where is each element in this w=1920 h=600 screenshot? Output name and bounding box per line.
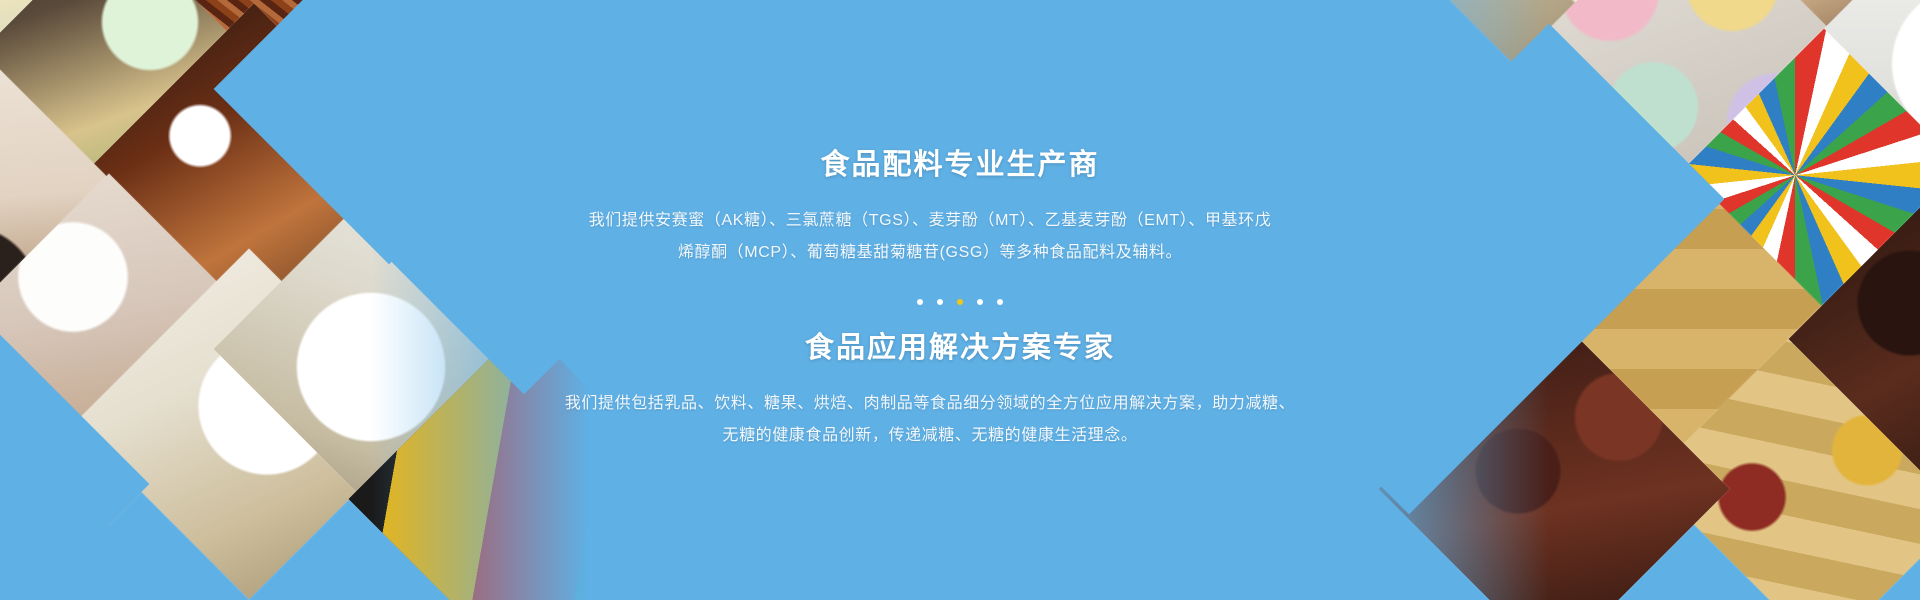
paragraph-secondary: 我们提供包括乳品、饮料、糖果、烘焙、肉制品等食品细分领域的全方位应用解决方案，助… (530, 388, 1330, 452)
divider-dot-1 (917, 299, 923, 305)
section-manufacturer: 食品配料专业生产商 我们提供安赛蜜（AK糖）、三氯蔗糖（TGS）、麦芽酚（MT）… (530, 148, 1390, 269)
paragraph-secondary-line-2: 无糖的健康食品创新，传递减糖、无糖的健康生活理念。 (530, 420, 1330, 452)
headline-secondary: 食品应用解决方案专家 (530, 331, 1390, 366)
promo-banner: 食品配料专业生产商 我们提供安赛蜜（AK糖）、三氯蔗糖（TGS）、麦芽酚（MT）… (0, 0, 1920, 600)
right-photo-mosaic (1300, 0, 1920, 600)
divider-dot-5 (997, 299, 1003, 305)
paragraph-secondary-line-1: 我们提供包括乳品、饮料、糖果、烘焙、肉制品等食品细分领域的全方位应用解决方案，助… (530, 388, 1330, 420)
divider-dot-accent (957, 299, 963, 305)
divider-dot-2 (937, 299, 943, 305)
paragraph-primary: 我们提供安赛蜜（AK糖）、三氯蔗糖（TGS）、麦芽酚（MT）、乙基麦芽酚（EMT… (530, 205, 1330, 269)
divider-dot-4 (977, 299, 983, 305)
dot-divider (917, 299, 1003, 305)
banner-content: 食品配料专业生产商 我们提供安赛蜜（AK糖）、三氯蔗糖（TGS）、麦芽酚（MT）… (530, 0, 1390, 600)
paragraph-primary-line-2: 烯醇酮（MCP）、葡萄糖基甜菊糖苷(GSG）等多种食品配料及辅料。 (530, 237, 1330, 269)
section-solutions: 食品应用解决方案专家 我们提供包括乳品、饮料、糖果、烘焙、肉制品等食品细分领域的… (530, 331, 1390, 452)
paragraph-primary-line-1: 我们提供安赛蜜（AK糖）、三氯蔗糖（TGS）、麦芽酚（MT）、乙基麦芽酚（EMT… (530, 205, 1330, 237)
headline-primary: 食品配料专业生产商 (530, 148, 1390, 183)
left-photo-mosaic (0, 0, 620, 600)
